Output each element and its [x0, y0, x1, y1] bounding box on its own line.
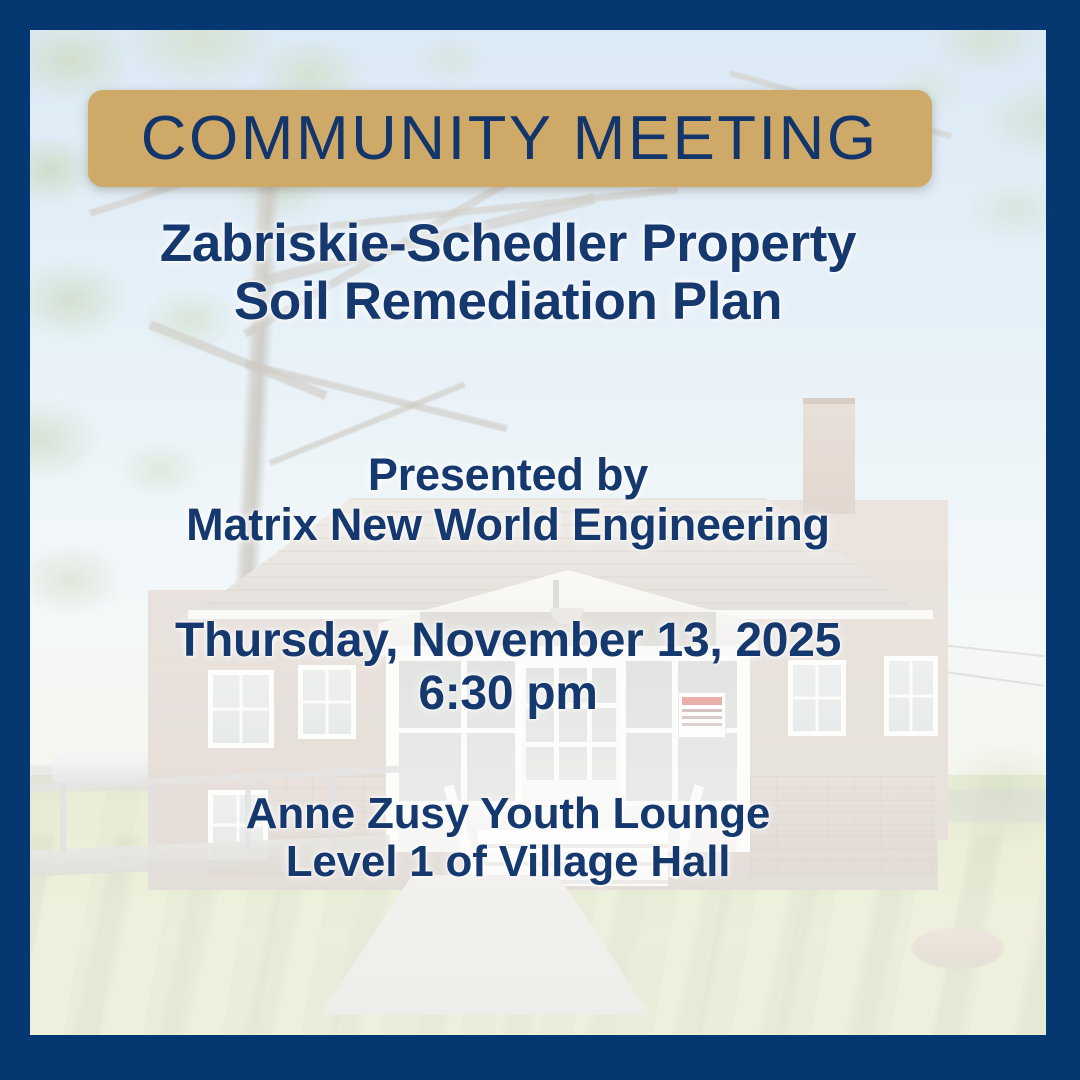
page-title: Zabriskie-Schedler Property Soil Remedia…: [0, 215, 1016, 332]
flyer-canvas: COMMUNITY MEETING Zabriskie-Schedler Pro…: [0, 0, 1080, 1080]
event-venue: Anne Zusy Youth Lounge Level 1 of Villag…: [0, 790, 1016, 887]
event-datetime: Thursday, November 13, 2025 6:30 pm: [0, 615, 1016, 721]
presenter-text: Presented by Matrix New World Engineerin…: [0, 450, 1016, 549]
community-meeting-label: COMMUNITY MEETING: [141, 108, 879, 170]
community-meeting-banner: COMMUNITY MEETING: [88, 90, 932, 187]
flyer-content: COMMUNITY MEETING Zabriskie-Schedler Pro…: [0, 0, 1080, 1080]
